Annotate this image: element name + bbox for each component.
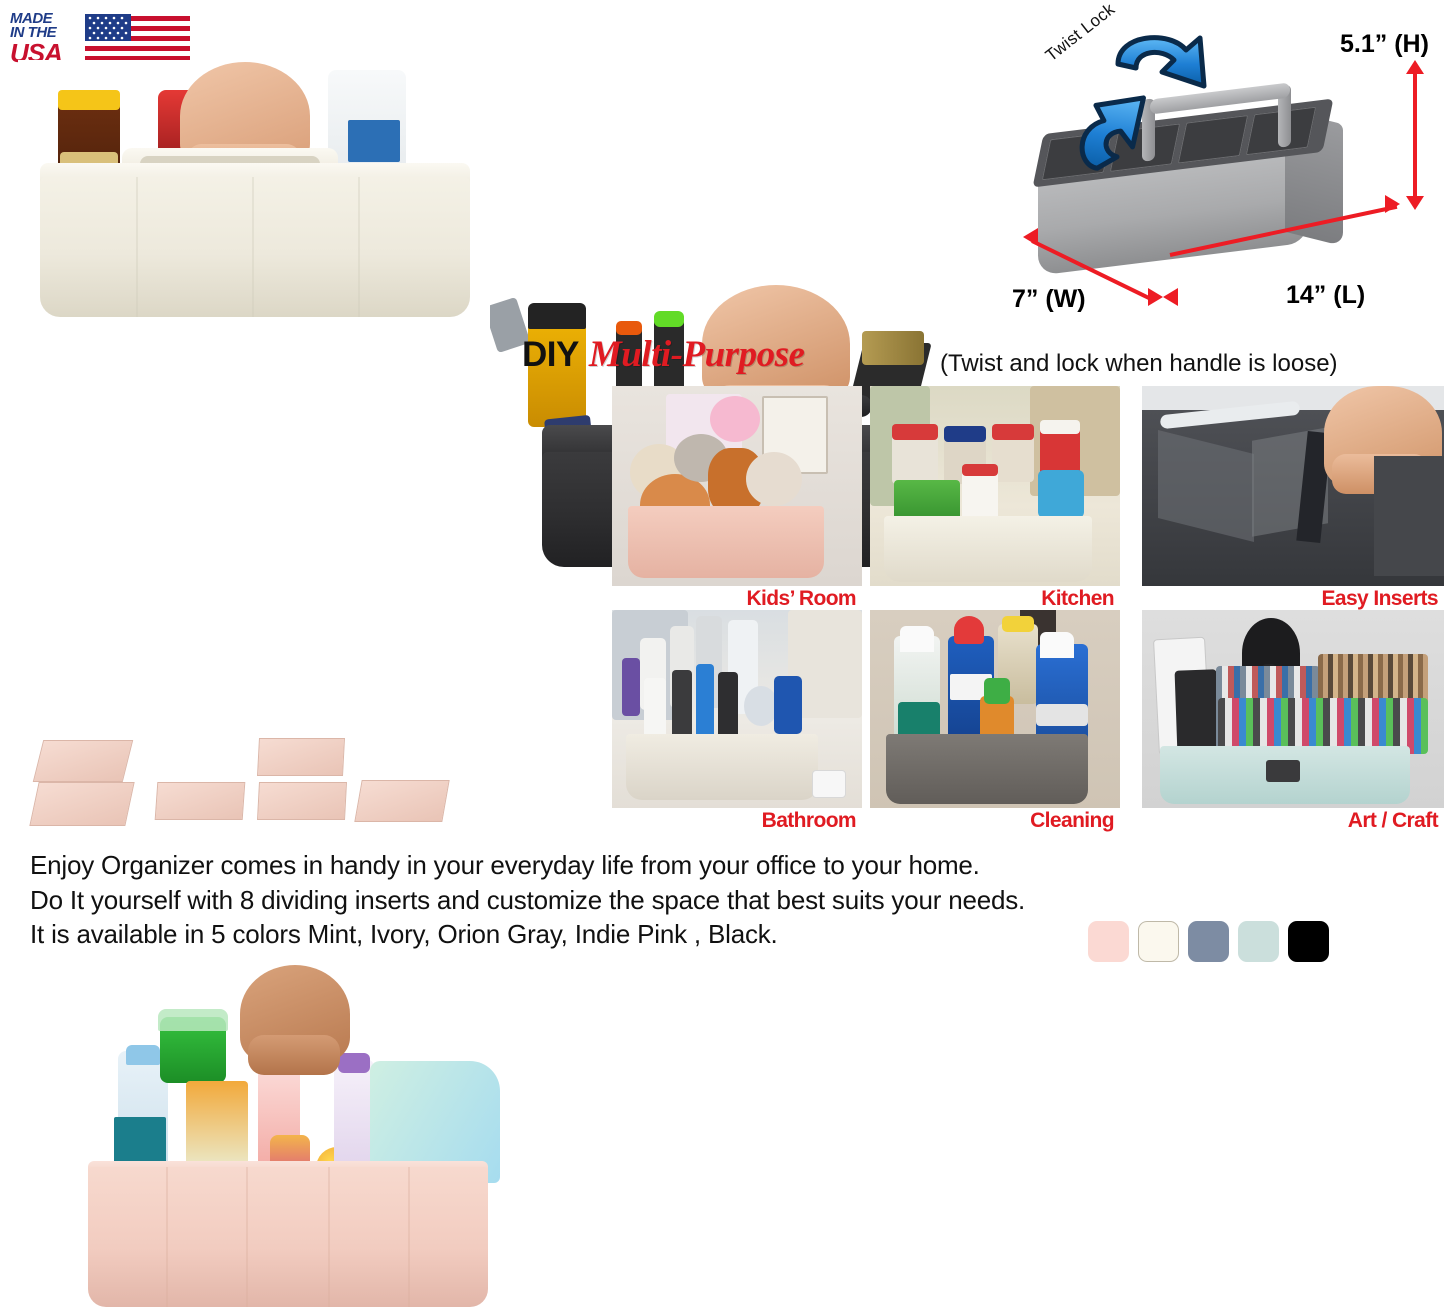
twist-lock-note: (Twist and lock when handle is loose) xyxy=(940,350,1338,378)
alcohol-label xyxy=(348,120,400,162)
baby-wash-bottle xyxy=(334,1059,374,1169)
width-arrow-right xyxy=(1148,288,1163,306)
divider-insert xyxy=(155,782,246,820)
grid-cell-easy-inserts[interactable]: Easy Inserts xyxy=(1142,386,1444,612)
baby-wash-cap xyxy=(338,1053,370,1073)
grid-cell-kids-room[interactable]: Kids’ Room xyxy=(612,386,862,612)
height-label: 5.1” (H) xyxy=(1340,30,1429,59)
grid-label-kids-room: Kids’ Room xyxy=(612,586,862,612)
usa-flag-icon xyxy=(85,14,190,64)
length-label: 14” (L) xyxy=(1286,281,1365,310)
description-line-1: Enjoy Organizer comes in handy in your e… xyxy=(30,848,1430,883)
divider-insert xyxy=(354,780,449,822)
flashlight-head xyxy=(528,303,586,329)
length-arrow-right xyxy=(1385,195,1400,213)
vitamin-bottle-cap xyxy=(58,90,120,110)
grid-label-cleaning: Cleaning xyxy=(870,808,1120,834)
wipes-tub-lid xyxy=(158,1009,228,1031)
grid-label-kitchen: Kitchen xyxy=(870,586,1120,612)
infographic-canvas: MADE IN THE USA xyxy=(0,0,1445,973)
length-arrow-left xyxy=(1163,288,1178,306)
height-arrow-top xyxy=(1406,60,1424,74)
easy-inserts-photo xyxy=(1142,386,1444,586)
caddy-body xyxy=(40,177,470,317)
fingers xyxy=(248,1035,340,1075)
hero-photo-first-aid-caddy xyxy=(18,60,478,325)
kids-room-photo xyxy=(612,386,862,586)
description-line-2: Do It yourself with 8 dividing inserts a… xyxy=(30,883,1430,918)
width-arrow-left xyxy=(1023,228,1038,246)
grid-label-bathroom: Bathroom xyxy=(612,808,862,834)
diy-title: DIYMulti-Purpose xyxy=(522,333,804,376)
divider-insert xyxy=(29,782,134,826)
hex-keys xyxy=(862,331,924,365)
multi-purpose-word: Multi-Purpose xyxy=(589,334,805,375)
swatch-mint[interactable] xyxy=(1238,921,1279,962)
swatch-orion-gray[interactable] xyxy=(1188,921,1229,962)
art-craft-photo xyxy=(1142,610,1444,810)
color-swatch-row xyxy=(1088,921,1329,962)
grid-cell-kitchen[interactable]: Kitchen xyxy=(870,386,1120,612)
height-arrow-bottom xyxy=(1406,196,1424,210)
swatch-black[interactable] xyxy=(1288,921,1329,962)
hero-photo-baby-caddy xyxy=(30,965,570,1315)
use-case-photo-grid: Kids’ Room Kitchen xyxy=(612,386,1444,834)
grid-cell-bathroom[interactable]: Bathroom xyxy=(612,610,862,834)
divider-insert xyxy=(257,782,347,820)
swatch-ivory[interactable] xyxy=(1138,921,1179,962)
diy-word: DIY xyxy=(522,335,579,374)
screwdriver-2-tip xyxy=(654,311,684,327)
caddy-body xyxy=(88,1167,488,1307)
divider-insert xyxy=(33,740,133,782)
width-label: 7” (W) xyxy=(1012,285,1086,314)
height-dimension-line xyxy=(1413,72,1417,202)
grid-label-art-craft: Art / Craft xyxy=(1142,808,1444,834)
grid-cell-art-craft[interactable]: Art / Craft xyxy=(1142,610,1444,834)
swatch-indie-pink[interactable] xyxy=(1088,921,1129,962)
grid-cell-cleaning[interactable]: Cleaning xyxy=(870,610,1120,834)
cleaning-photo xyxy=(870,610,1120,810)
kitchen-photo xyxy=(870,386,1120,586)
divider-insert xyxy=(257,738,345,776)
grid-label-easy-inserts: Easy Inserts xyxy=(1142,586,1444,612)
bathroom-photo xyxy=(612,610,862,810)
twist-lock-arrow-up-icon xyxy=(1062,76,1192,206)
lotion-cap xyxy=(126,1045,160,1065)
